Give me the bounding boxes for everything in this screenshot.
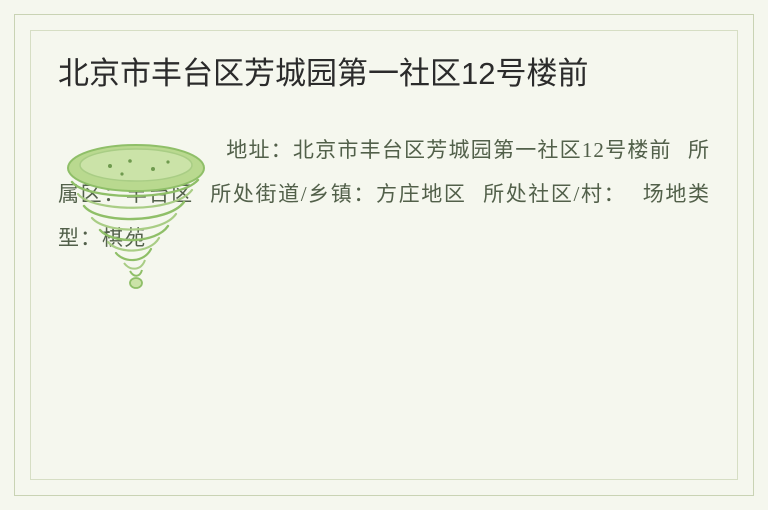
- body-area: 地址：北京市丰台区芳城园第一社区12号楼前所属区：丰台区所处街道/乡镇：方庄地区…: [58, 128, 710, 260]
- community-label: 所处社区/村：: [482, 182, 626, 206]
- tornado-illustration: [58, 136, 228, 296]
- street-label: 所处街道/乡镇：: [210, 182, 376, 206]
- address-value: 北京市丰台区芳城园第一社区12号楼前: [293, 138, 672, 162]
- street-value: 方庄地区: [376, 182, 466, 206]
- page-title: 北京市丰台区芳城园第一社区12号楼前: [58, 52, 658, 95]
- page-root: 北京市丰台区芳城园第一社区12号楼前: [0, 0, 768, 510]
- address-label: 地址：: [226, 138, 293, 162]
- content-area: 北京市丰台区芳城园第一社区12号楼前: [58, 52, 710, 458]
